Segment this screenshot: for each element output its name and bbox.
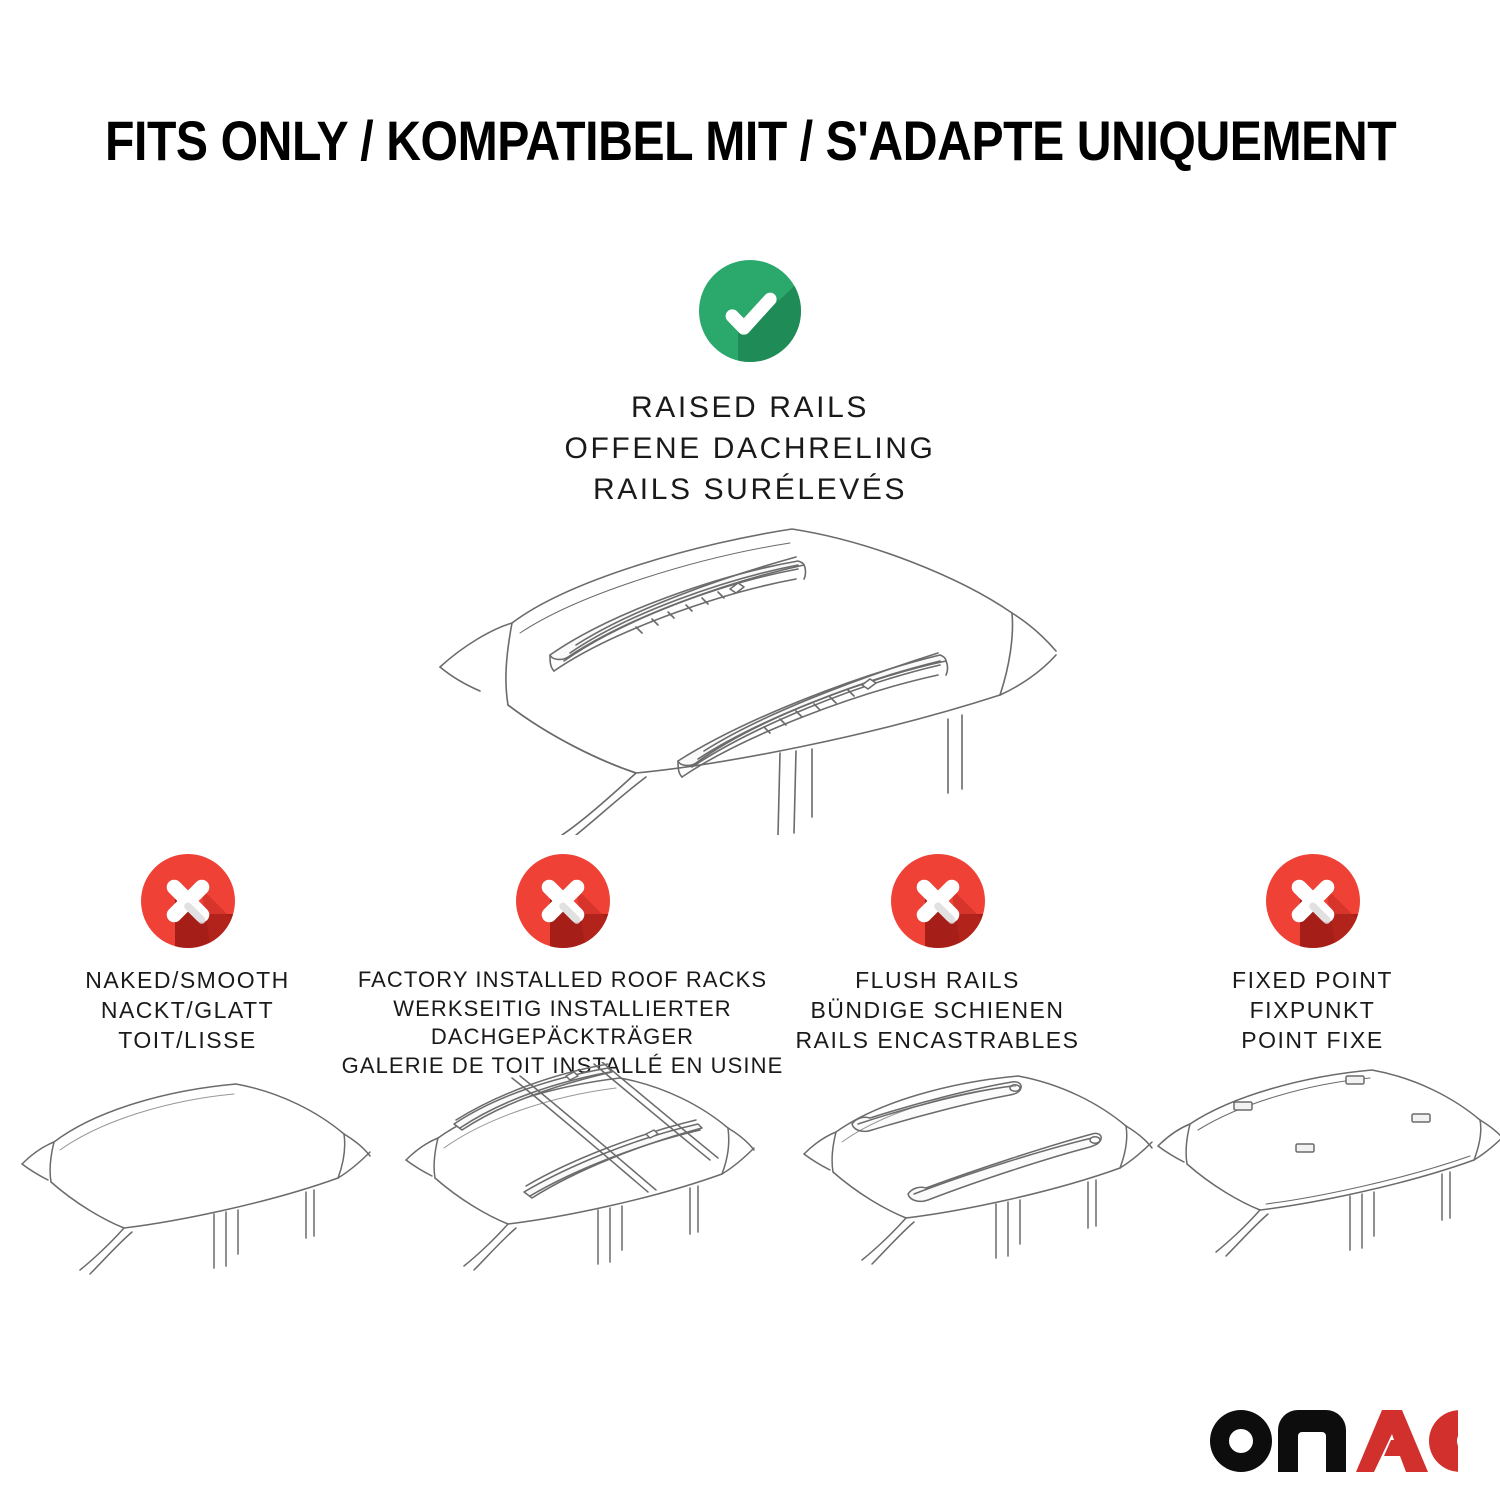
label-fr: RAILS ENCASTRABLES <box>796 1026 1080 1056</box>
fixed-point-roof-illustration <box>1150 1062 1500 1292</box>
omac-logo <box>1208 1410 1458 1472</box>
incompatible-item-fixed-point: FIXED POINT FIXPUNKT POINT FIXE <box>1125 852 1500 1080</box>
label-en: FACTORY INSTALLED ROOF RACKS <box>342 966 784 995</box>
label-de: BÜNDIGE SCHIENEN <box>796 996 1080 1026</box>
logo-letter-a <box>1356 1410 1428 1472</box>
label-fr: POINT FIXE <box>1232 1026 1393 1056</box>
label-de-line1: WERKSEITIG INSTALLIERTER <box>342 995 784 1024</box>
label-group: FIXED POINT FIXPUNKT POINT FIXE <box>1232 966 1393 1056</box>
fitment-infographic: FITS ONLY / KOMPATIBEL MIT / S'ADAPTE UN… <box>0 0 1500 1500</box>
incompatible-section: NAKED/SMOOTH NACKT/GLATT TOIT/LISSE <box>0 852 1500 1080</box>
flush-rails-roof-illustration <box>800 1062 1180 1292</box>
label-de: FIXPUNKT <box>1232 996 1393 1026</box>
label-en: FIXED POINT <box>1232 966 1393 996</box>
incompatible-item-factory-roof-racks: FACTORY INSTALLED ROOF RACKS WERKSEITIG … <box>375 852 750 1080</box>
logo-letter-m <box>1278 1410 1346 1472</box>
label-en: NAKED/SMOOTH <box>85 966 290 996</box>
label-group: FLUSH RAILS BÜNDIGE SCHIENEN RAILS ENCAS… <box>796 966 1080 1056</box>
label-fr: TOIT/LISSE <box>85 1026 290 1056</box>
red-x-icon <box>889 852 987 950</box>
green-check-icon <box>697 258 803 364</box>
logo-letter-c <box>1429 1410 1458 1472</box>
compatible-label-de: OFFENE DACHRELING <box>565 429 936 470</box>
raised-rails-illustration <box>400 505 1100 835</box>
red-x-icon <box>1264 852 1362 950</box>
incompatible-item-naked-smooth: NAKED/SMOOTH NACKT/GLATT TOIT/LISSE <box>0 852 375 1080</box>
label-en: FLUSH RAILS <box>796 966 1080 996</box>
label-group: NAKED/SMOOTH NACKT/GLATT TOIT/LISSE <box>85 966 290 1056</box>
factory-crossbars-roof-illustration <box>400 1062 780 1292</box>
label-de-line2: DACHGEPÄCKTRÄGER <box>342 1023 784 1052</box>
logo-letter-o <box>1210 1410 1272 1472</box>
red-x-icon <box>514 852 612 950</box>
red-x-icon <box>139 852 237 950</box>
compatible-label-en: RAISED RAILS <box>565 388 936 429</box>
compatible-section: RAISED RAILS OFFENE DACHRELING RAILS SUR… <box>0 258 1500 510</box>
page-title: FITS ONLY / KOMPATIBEL MIT / S'ADAPTE UN… <box>105 108 1395 173</box>
bare-roof-illustration <box>18 1062 398 1292</box>
compatible-labels: RAISED RAILS OFFENE DACHRELING RAILS SUR… <box>565 388 936 510</box>
incompatible-item-flush-rails: FLUSH RAILS BÜNDIGE SCHIENEN RAILS ENCAS… <box>750 852 1125 1080</box>
label-de: NACKT/GLATT <box>85 996 290 1026</box>
